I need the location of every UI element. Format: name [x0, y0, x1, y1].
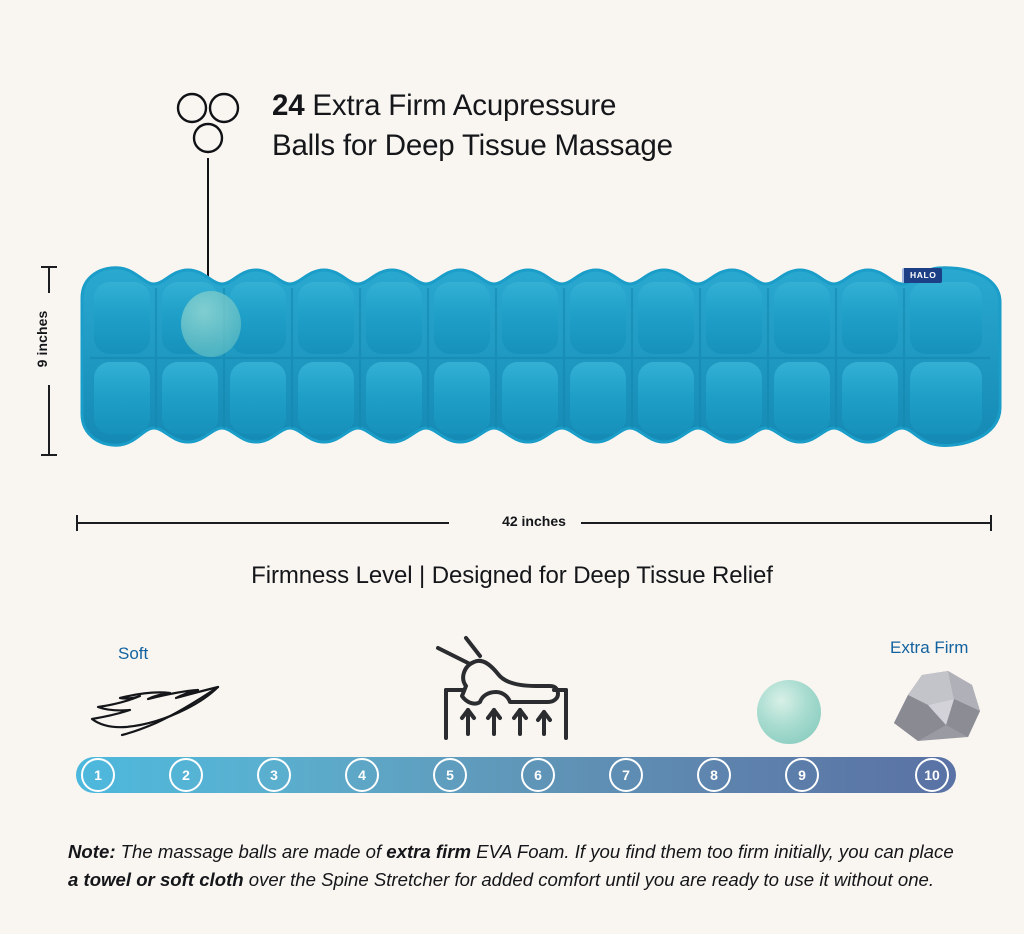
note-bold-1: extra firm [386, 841, 471, 862]
note-part-3: over the Spine Stretcher for added comfo… [244, 869, 934, 890]
note-bold-2: a towel or soft cloth [68, 869, 244, 890]
page-title: 24 Extra Firm Acupressure Balls for Deep… [272, 86, 872, 166]
firmness-step-5[interactable]: 5 [433, 758, 467, 792]
firmness-step-10[interactable]: 10 [915, 758, 949, 792]
firmness-step-3[interactable]: 3 [257, 758, 291, 792]
firmness-step-7[interactable]: 7 [609, 758, 643, 792]
note-text: Note: The massage balls are made of extr… [68, 838, 958, 894]
highlighted-acupressure-ball [181, 291, 241, 357]
note-prefix: Note: [68, 841, 116, 862]
feather-icon [78, 681, 226, 743]
note-part-1: The massage balls are made of [116, 841, 387, 862]
headline-line-1: Extra Firm Acupressure [304, 89, 616, 122]
ball-count: 24 [272, 89, 304, 122]
firmness-step-1[interactable]: 1 [81, 758, 115, 792]
firmness-step-9[interactable]: 9 [785, 758, 819, 792]
firmness-step-4[interactable]: 4 [345, 758, 379, 792]
scale-label-extra-firm: Extra Firm [890, 638, 968, 658]
width-label: 42 inches [76, 513, 992, 529]
firmness-step-6[interactable]: 6 [521, 758, 555, 792]
note-part-2: EVA Foam. If you find them too firm init… [471, 841, 954, 862]
massage-ball-icon [755, 678, 823, 746]
firmness-section-title: Firmness Level | Designed for Deep Tissu… [0, 562, 1024, 590]
height-label: 9 inches [31, 293, 53, 385]
firmness-step-8[interactable]: 8 [697, 758, 731, 792]
foot-pressure-icon [424, 634, 586, 744]
brand-tag: HALO [902, 268, 942, 283]
headline-line-2: Balls for Deep Tissue Massage [272, 129, 673, 162]
scale-label-soft: Soft [118, 644, 148, 664]
rock-icon [888, 665, 986, 745]
acupressure-balls-icon [176, 92, 242, 158]
height-cap-bottom [41, 454, 57, 456]
firmness-scale[interactable]: 1 2 3 4 5 6 7 8 9 10 [76, 757, 956, 793]
height-dimension: 9 inches [34, 266, 64, 456]
firmness-step-2[interactable]: 2 [169, 758, 203, 792]
width-dimension: 42 inches [76, 512, 992, 534]
